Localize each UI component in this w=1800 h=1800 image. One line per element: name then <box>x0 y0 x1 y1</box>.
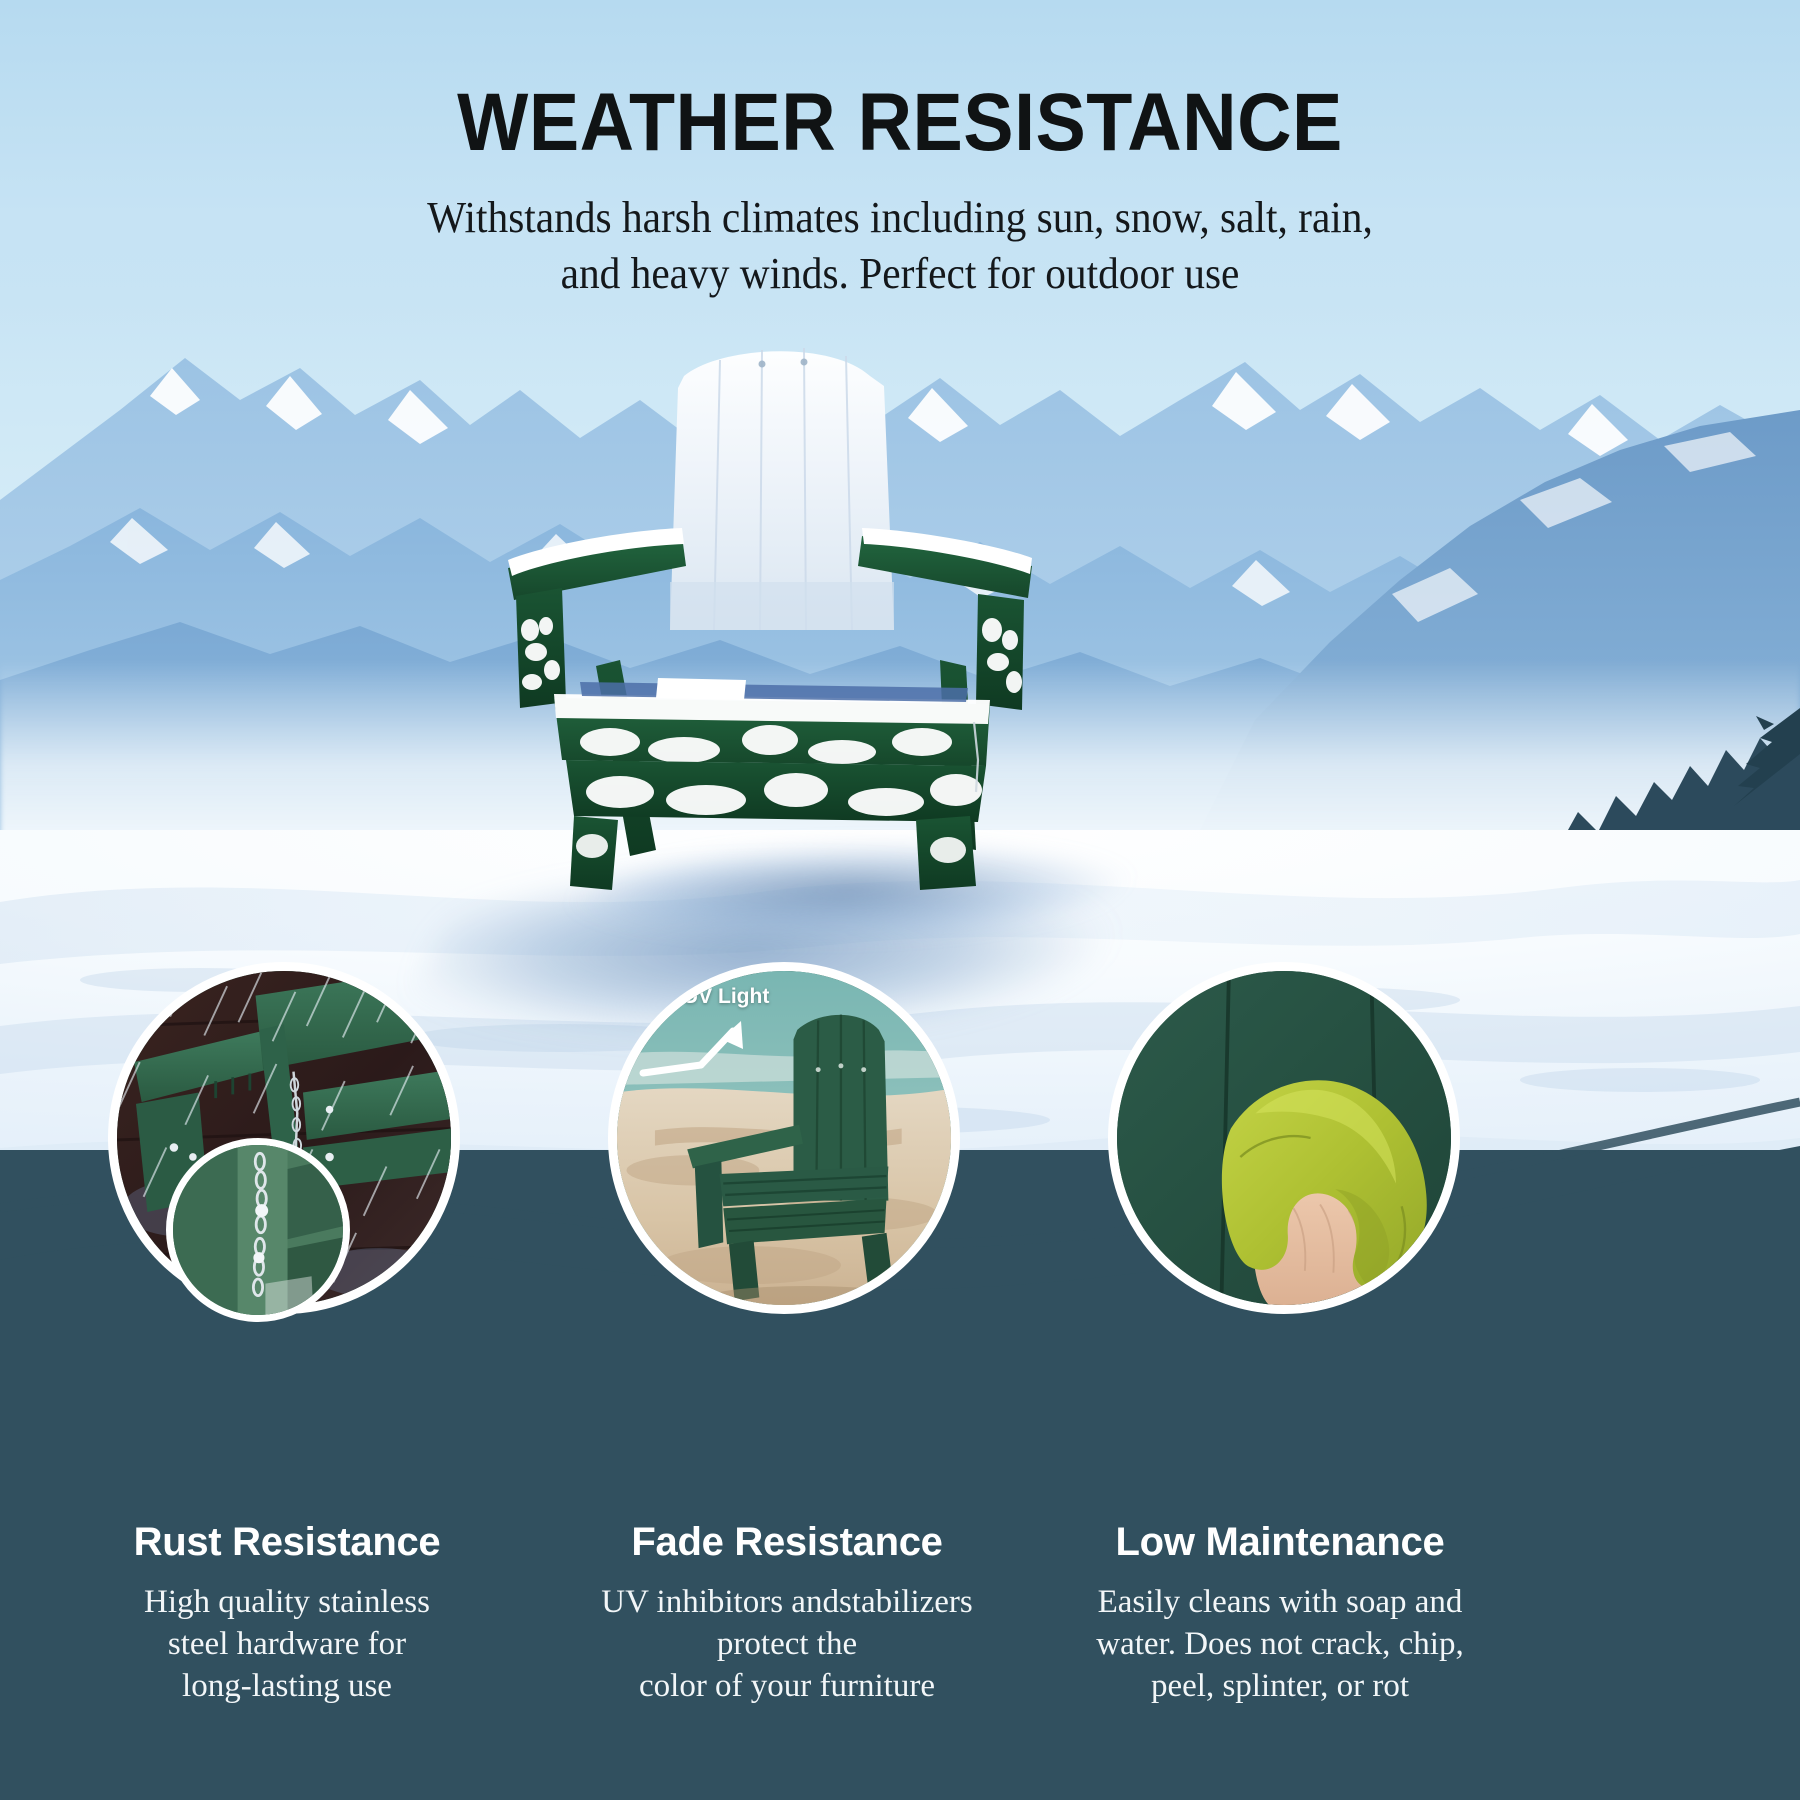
feature-desc-line-2: steel hardware for <box>168 1626 406 1662</box>
feature-desc-line-3: peel, splinter, or rot <box>1151 1668 1409 1704</box>
feature-desc-line-2: protect the <box>717 1626 857 1662</box>
feature-desc-fade: UV inhibitors andstabilizers protect the… <box>552 1581 1022 1708</box>
hardware-closeup-inset <box>166 1138 350 1322</box>
subtitle-line-1: Withstands harsh climates including sun,… <box>54 190 1746 246</box>
feature-title-fade: Fade Resistance <box>552 1520 1022 1565</box>
feature-desc-line-1: UV inhibitors andstabilizers <box>601 1584 973 1620</box>
feature-text-low-maintenance: Low Maintenance Easily cleans with soap … <box>1045 1520 1515 1708</box>
page-title: WEATHER RESISTANCE <box>72 82 1728 164</box>
feature-desc-line-3: color of your furniture <box>639 1668 935 1704</box>
feature-title-low-maintenance: Low Maintenance <box>1045 1520 1515 1565</box>
chain-closeup <box>173 1145 343 1315</box>
infographic-root: WEATHER RESISTANCE Withstands harsh clim… <box>0 0 1800 1800</box>
feature-text-fade-resistance: Fade Resistance UV inhibitors andstabili… <box>552 1520 1022 1708</box>
page-subtitle: Withstands harsh climates including sun,… <box>54 190 1746 303</box>
uv-light-label: UV Light <box>683 985 769 1009</box>
uv-light-arrow-icon <box>637 1015 777 1105</box>
feature-desc-rust: High quality stainless steel hardware fo… <box>52 1581 522 1708</box>
feature-desc-line-1: Easily cleans with soap and <box>1098 1584 1463 1620</box>
feature-desc-line-2: water. Does not crack, chip, <box>1096 1626 1463 1662</box>
feature-desc-line-3: long-lasting use <box>182 1668 392 1704</box>
feature-desc-low-maintenance: Easily cleans with soap and water. Does … <box>1045 1581 1515 1708</box>
feature-text-rust-resistance: Rust Resistance High quality stainless s… <box>52 1520 522 1708</box>
feature-desc-line-1: High quality stainless <box>144 1584 430 1620</box>
subtitle-line-2: and heavy winds. Perfect for outdoor use <box>54 246 1746 302</box>
snow-covered-chair <box>470 330 1070 920</box>
feature-title-rust: Rust Resistance <box>52 1520 522 1565</box>
feature-image-fade-resistance: UV Light <box>608 962 960 1314</box>
cleaning-scene <box>1117 971 1451 1305</box>
feature-image-low-maintenance <box>1108 962 1460 1314</box>
adirondack-chair-graphic <box>470 330 1070 920</box>
